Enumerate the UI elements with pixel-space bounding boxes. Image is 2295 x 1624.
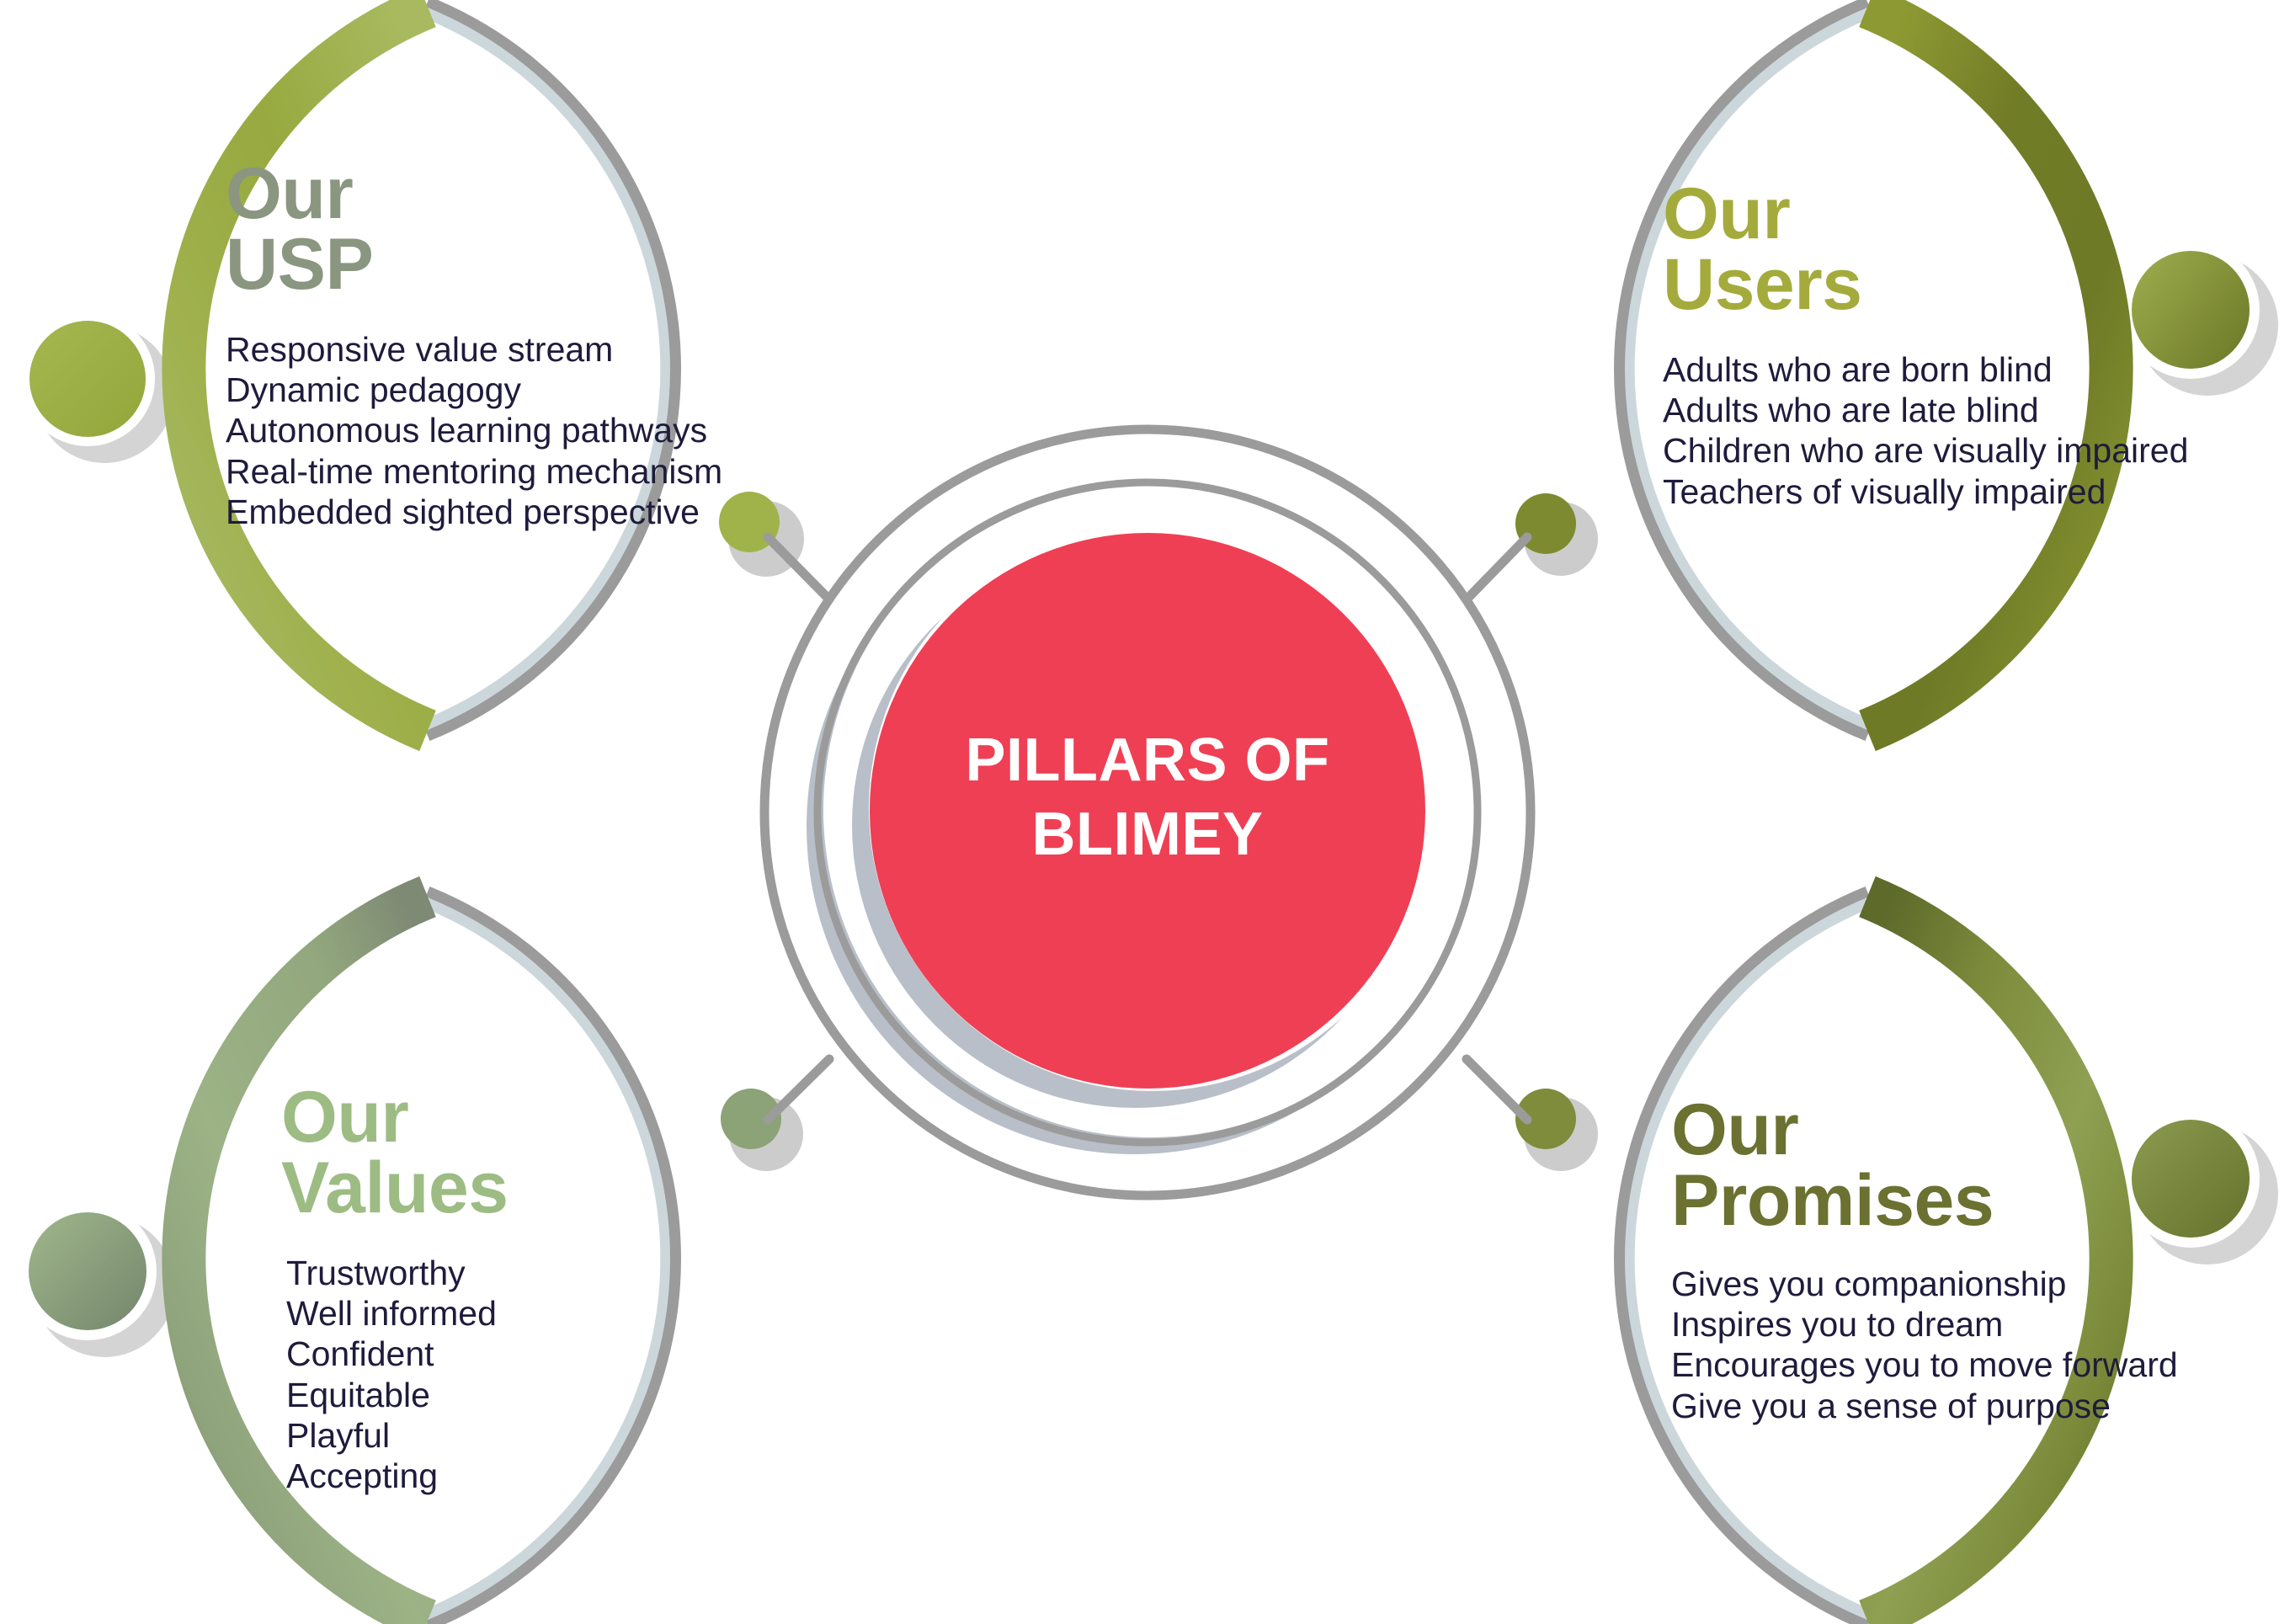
list-item: Embedded sighted perspective xyxy=(226,492,722,532)
users-text-block: Our Users Adults who are born blind Adul… xyxy=(1663,178,2188,512)
center-title: PILLARS OF BLIMEY xyxy=(811,724,1484,872)
list-item: Confident xyxy=(286,1334,509,1374)
usp-node-dot xyxy=(29,321,146,437)
list-item: Teachers of visually impaired xyxy=(1663,471,2188,512)
promises-text-block: Our Promises Gives you companionship Ins… xyxy=(1671,1094,2178,1426)
list-item: Real-time mentoring mechanism xyxy=(226,451,722,492)
values-text-block: Our Values Trustworthy Well informed Con… xyxy=(281,1082,509,1497)
usp-text-block: Our USP Responsive value stream Dynamic … xyxy=(226,158,722,532)
diagram-canvas: Our USP Responsive value stream Dynamic … xyxy=(0,0,2295,1624)
list-item: Adults who are born blind xyxy=(1663,349,2188,390)
users-connector-line xyxy=(1467,537,1527,599)
users-title: Our Users xyxy=(1663,178,2188,321)
promises-list: Gives you companionship Inspires you to … xyxy=(1671,1264,2178,1427)
values-connector-line xyxy=(768,1059,829,1120)
list-item: Gives you companionship xyxy=(1671,1264,2178,1304)
list-item: Encourages you to move forward xyxy=(1671,1344,2178,1385)
list-item: Playful xyxy=(286,1415,509,1456)
usp-title: Our USP xyxy=(226,158,722,301)
list-item: Well informed xyxy=(286,1293,509,1334)
values-node-dot xyxy=(29,1212,146,1330)
users-list: Adults who are born blind Adults who are… xyxy=(1663,349,2188,513)
list-item: Autonomous learning pathways xyxy=(226,410,722,450)
list-item: Give you a sense of purpose xyxy=(1671,1386,2178,1426)
usp-list: Responsive value stream Dynamic pedagogy… xyxy=(226,329,722,533)
list-item: Equitable xyxy=(286,1375,509,1415)
values-title: Our Values xyxy=(281,1082,509,1224)
list-item: Trustworthy xyxy=(286,1253,509,1293)
list-item: Accepting xyxy=(286,1456,509,1496)
list-item: Children who are visually impaired xyxy=(1663,430,2188,471)
list-item: Responsive value stream xyxy=(226,329,722,370)
promises-title: Our Promises xyxy=(1671,1094,2178,1237)
values-list: Trustworthy Well informed Confident Equi… xyxy=(286,1253,509,1497)
list-item: Adults who are late blind xyxy=(1663,390,2188,430)
list-item: Inspires you to dream xyxy=(1671,1304,2178,1344)
list-item: Dynamic pedagogy xyxy=(226,370,722,410)
promises-connector-line xyxy=(1467,1059,1527,1120)
